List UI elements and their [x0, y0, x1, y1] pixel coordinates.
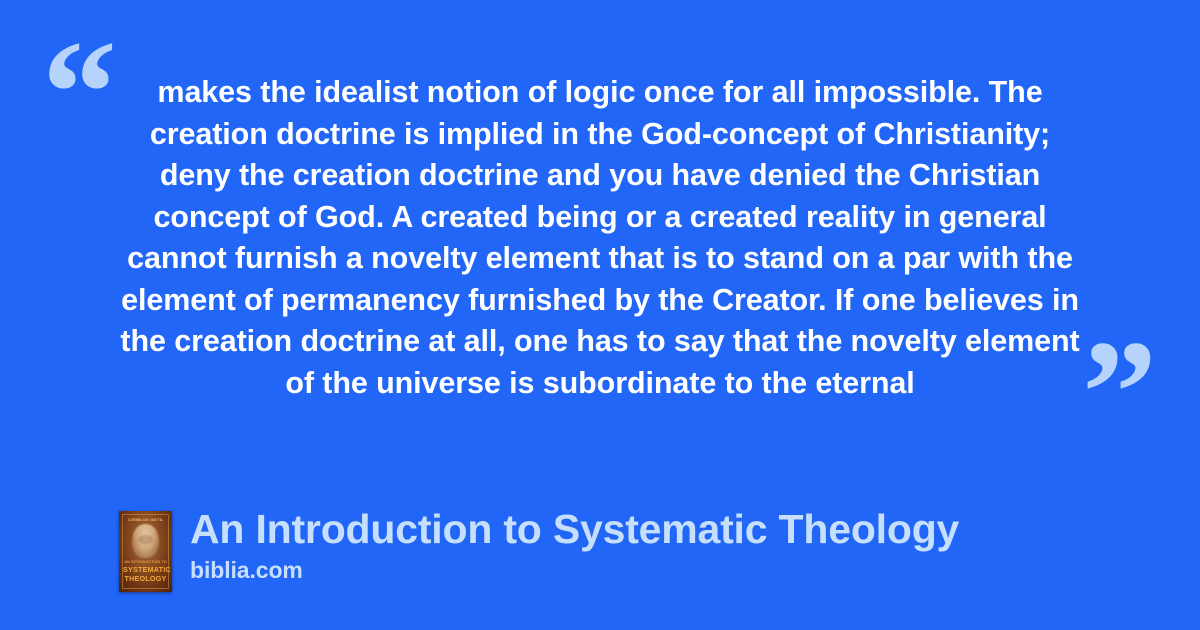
book-cover-portrait-image	[132, 524, 159, 558]
quote-text: makes the idealist notion of logic once …	[112, 72, 1088, 404]
footer-text-group: An Introduction to Systematic Theology b…	[190, 505, 959, 585]
quote-card: “ makes the idealist notion of logic onc…	[0, 0, 1200, 630]
closing-quote-icon: ”	[1082, 318, 1157, 468]
book-title: An Introduction to Systematic Theology	[190, 505, 959, 553]
book-cover-title-line-3: THEOLOGY	[123, 574, 168, 583]
footer-attribution: CORNELIUS VAN TIL AN INTRODUCTION TO SYS…	[119, 505, 959, 592]
book-cover-title-text: AN INTRODUCTION TO SYSTEMATIC THEOLOGY	[123, 560, 168, 583]
quote-block: makes the idealist notion of logic once …	[112, 72, 1088, 404]
book-cover-title-line-1: AN INTRODUCTION TO	[123, 560, 168, 564]
opening-quote-icon: “	[42, 18, 117, 168]
book-cover-author-text: CORNELIUS VAN TIL	[119, 518, 172, 522]
site-name[interactable]: biblia.com	[190, 555, 959, 585]
book-cover-title-line-2: SYSTEMATIC	[123, 565, 168, 574]
book-cover-thumbnail: CORNELIUS VAN TIL AN INTRODUCTION TO SYS…	[119, 511, 172, 592]
